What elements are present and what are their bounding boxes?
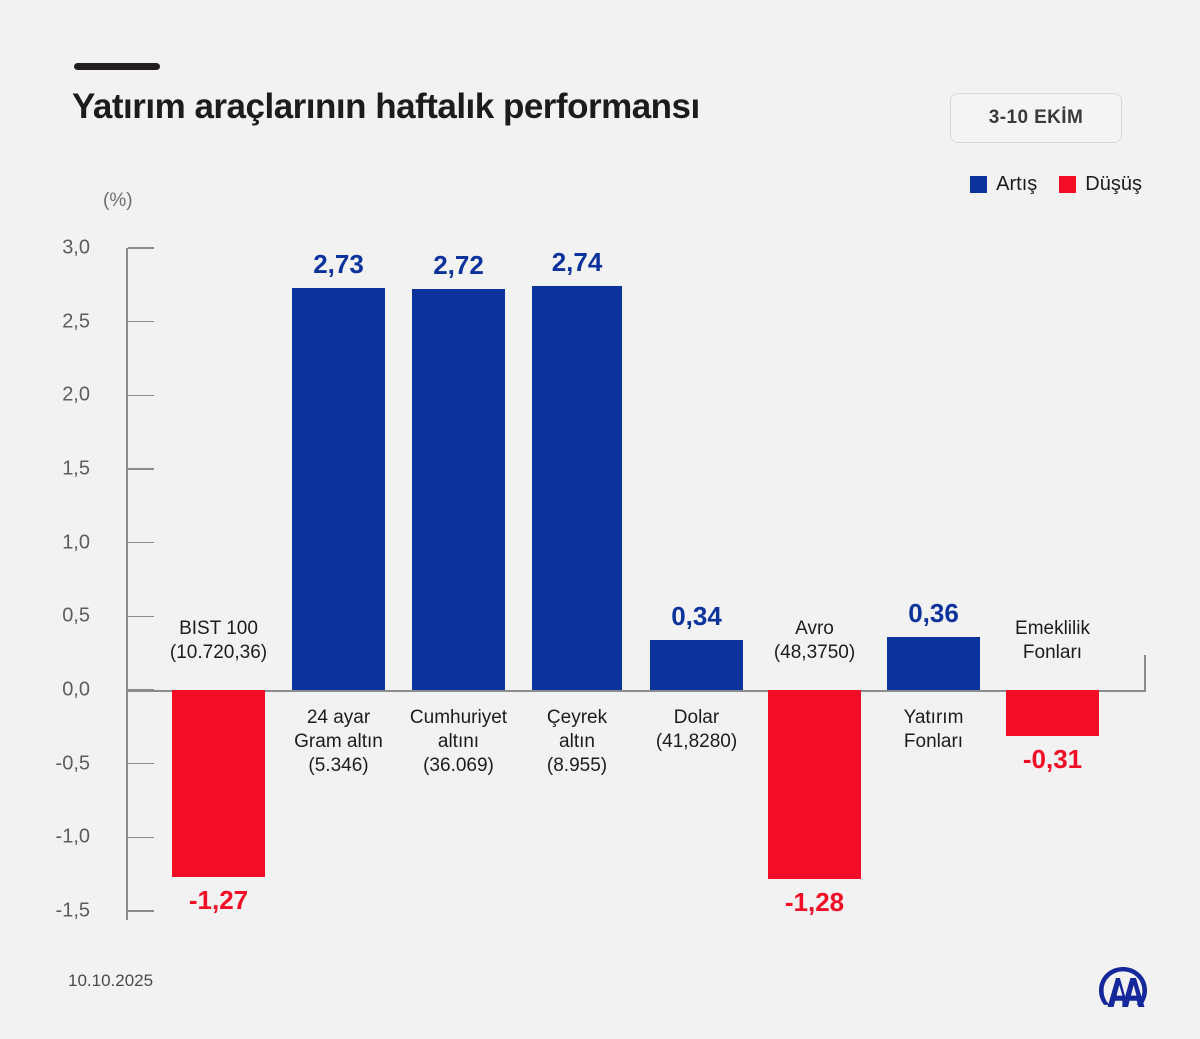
- y-axis-tick: [128, 542, 154, 544]
- category-label-line: (8.955): [492, 754, 662, 778]
- y-axis-tick-label: 2,5: [24, 310, 90, 333]
- y-axis-unit-label: (%): [103, 190, 133, 212]
- aa-logo-icon: [1092, 963, 1154, 1015]
- y-axis-tick-label: -0,5: [24, 752, 90, 775]
- footer-date: 10.10.2025: [68, 971, 153, 991]
- y-axis-tick-label: -1,0: [24, 826, 90, 849]
- category-label-line: Yatırım: [847, 706, 1020, 730]
- y-axis-tick-label: -1,5: [24, 900, 90, 923]
- y-axis-tick-label: 0,5: [24, 605, 90, 628]
- y-axis-tick: [128, 763, 154, 765]
- category-label-line: Emeklilik: [966, 617, 1139, 641]
- bar-8[interactable]: [1006, 690, 1099, 736]
- category-label-line: Dolar: [610, 706, 783, 730]
- infographic-root: Yatırım araçlarının haftalık performansı…: [0, 0, 1200, 1039]
- bar-2[interactable]: [292, 288, 385, 690]
- y-axis-tick-label: 1,0: [24, 531, 90, 554]
- y-axis-tick: [128, 321, 154, 323]
- baseline-end-cap: [1144, 655, 1146, 692]
- y-axis-tick: [128, 468, 154, 470]
- category-label: Dolar(41,8280): [610, 706, 783, 754]
- y-axis-tick-label: 2,0: [24, 384, 90, 407]
- y-axis-tick-label: 1,5: [24, 458, 90, 481]
- y-axis-spine: [126, 248, 128, 920]
- category-label-line: BIST 100: [132, 617, 305, 641]
- y-axis-tick-label: 3,0: [24, 237, 90, 260]
- bar-3[interactable]: [412, 289, 505, 690]
- category-label-line: (10.720,36): [132, 641, 305, 665]
- bar-chart-plot: (%) 3,02,52,01,51,00,50,0-0,5-1,0-1,5 -1…: [0, 0, 1200, 1039]
- category-label-line: (41,8280): [610, 730, 783, 754]
- category-label: EmeklilikFonları: [966, 617, 1139, 665]
- y-axis-tick: [128, 395, 154, 397]
- bar-4[interactable]: [532, 286, 622, 690]
- category-label: BIST 100(10.720,36): [132, 617, 305, 665]
- bar-value-label: -0,31: [976, 744, 1129, 775]
- y-axis-tick: [128, 247, 154, 249]
- category-label-line: (48,3750): [728, 641, 901, 665]
- y-axis-tick: [128, 837, 154, 839]
- bar-value-label: -1,27: [142, 885, 295, 916]
- bar-value-label: 2,74: [502, 247, 652, 278]
- bar-value-label: -1,28: [738, 887, 891, 918]
- zero-baseline: [126, 690, 1146, 692]
- category-label-line: Fonları: [966, 641, 1139, 665]
- y-axis-tick-label: 0,0: [24, 679, 90, 702]
